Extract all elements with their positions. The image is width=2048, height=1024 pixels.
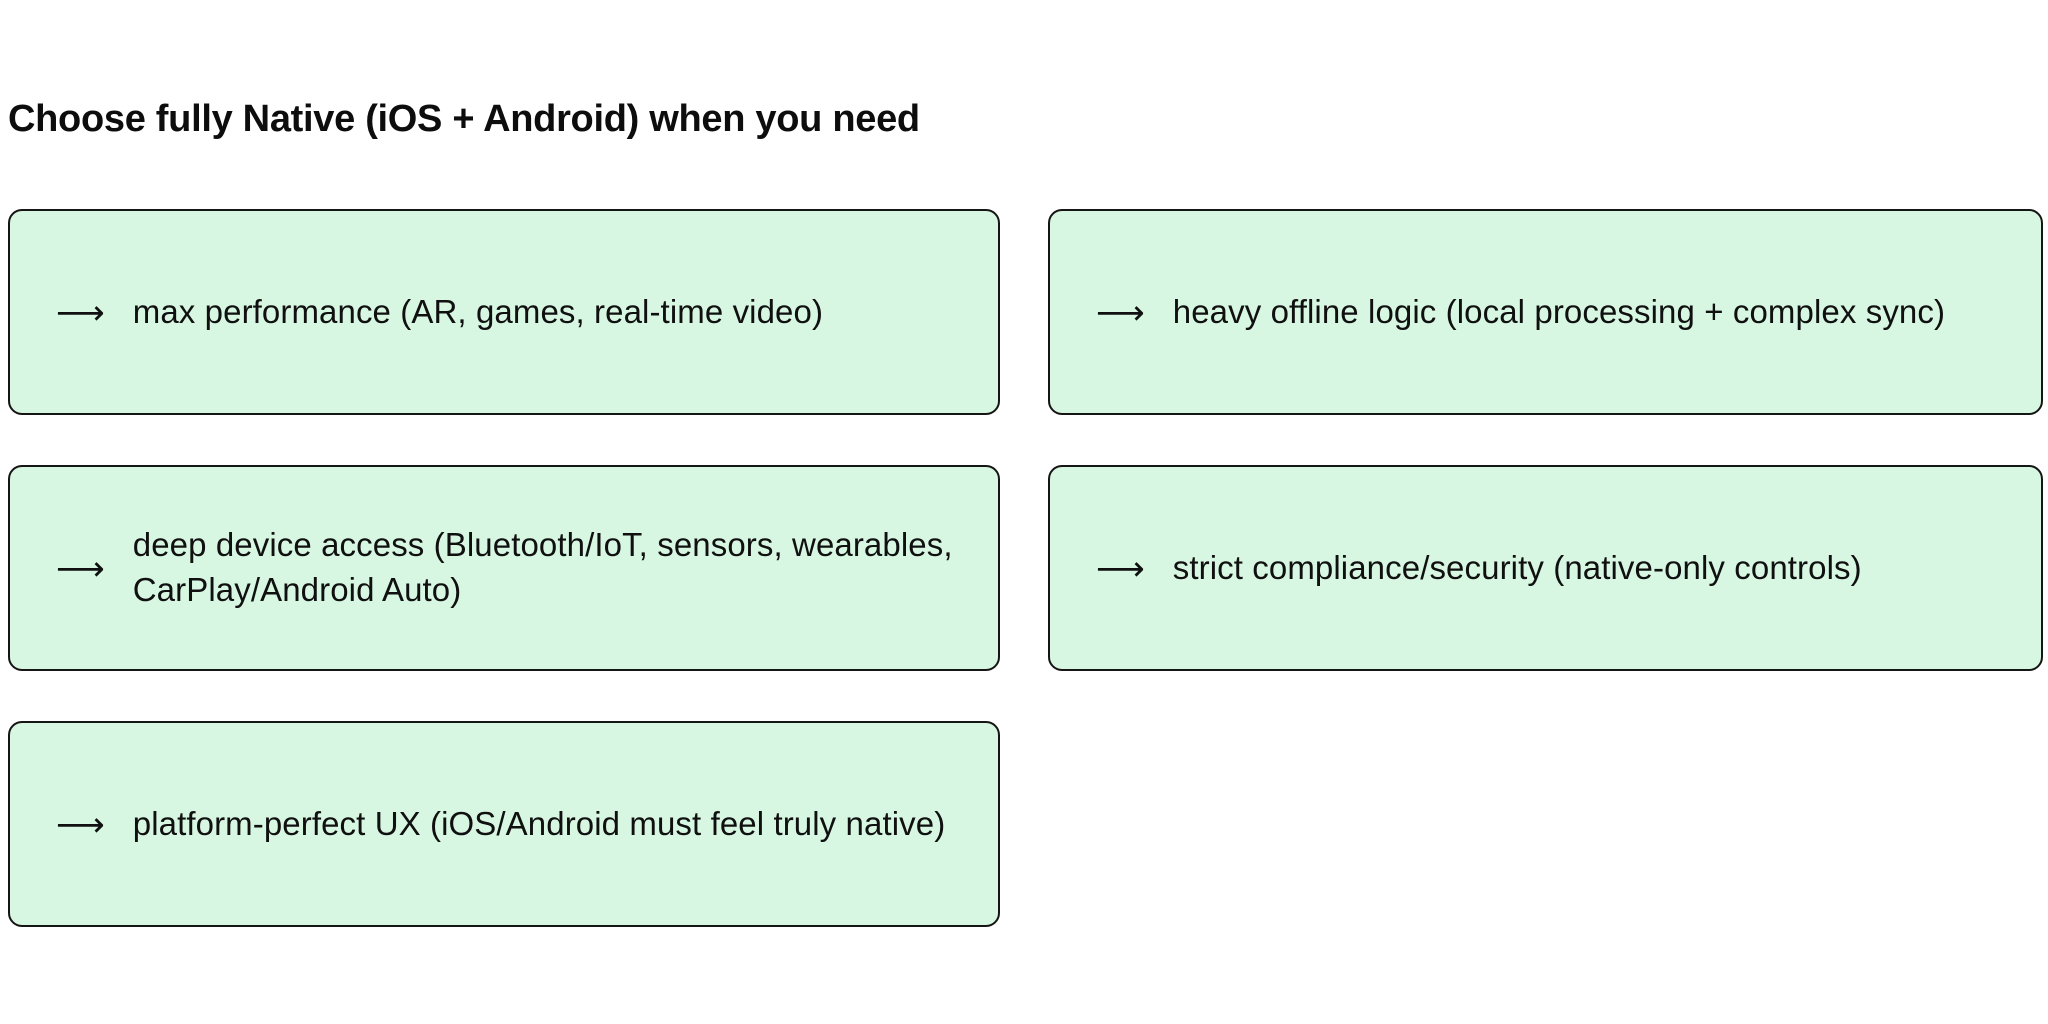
criteria-card-platform-perfect-ux[interactable]: ⟶ platform-perfect UX (iOS/Android must …: [8, 721, 1000, 927]
arrow-right-icon: ⟶: [1096, 296, 1145, 330]
criteria-card-label: strict compliance/security (native-only …: [1173, 546, 2013, 591]
arrow-right-icon: ⟶: [56, 552, 105, 586]
criteria-card-label: deep device access (Bluetooth/IoT, senso…: [133, 523, 970, 612]
criteria-card-placeholder: [1048, 721, 2043, 927]
criteria-card-label: max performance (AR, games, real-time vi…: [133, 290, 970, 335]
slide-root: Choose fully Native (iOS + Android) when…: [0, 0, 2048, 1024]
criteria-card-device-access[interactable]: ⟶ deep device access (Bluetooth/IoT, sen…: [8, 465, 1000, 671]
native-criteria-card-grid: ⟶ max performance (AR, games, real-time …: [8, 209, 2043, 927]
criteria-card-offline-logic[interactable]: ⟶ heavy offline logic (local processing …: [1048, 209, 2043, 415]
criteria-card-compliance-security[interactable]: ⟶ strict compliance/security (native-onl…: [1048, 465, 2043, 671]
criteria-card-label: heavy offline logic (local processing + …: [1173, 290, 2013, 335]
arrow-right-icon: ⟶: [56, 808, 105, 842]
arrow-right-icon: ⟶: [56, 296, 105, 330]
arrow-right-icon: ⟶: [1096, 552, 1145, 586]
criteria-card-max-performance[interactable]: ⟶ max performance (AR, games, real-time …: [8, 209, 1000, 415]
page-title: Choose fully Native (iOS + Android) when…: [8, 97, 920, 143]
criteria-card-label: platform-perfect UX (iOS/Android must fe…: [133, 802, 970, 847]
